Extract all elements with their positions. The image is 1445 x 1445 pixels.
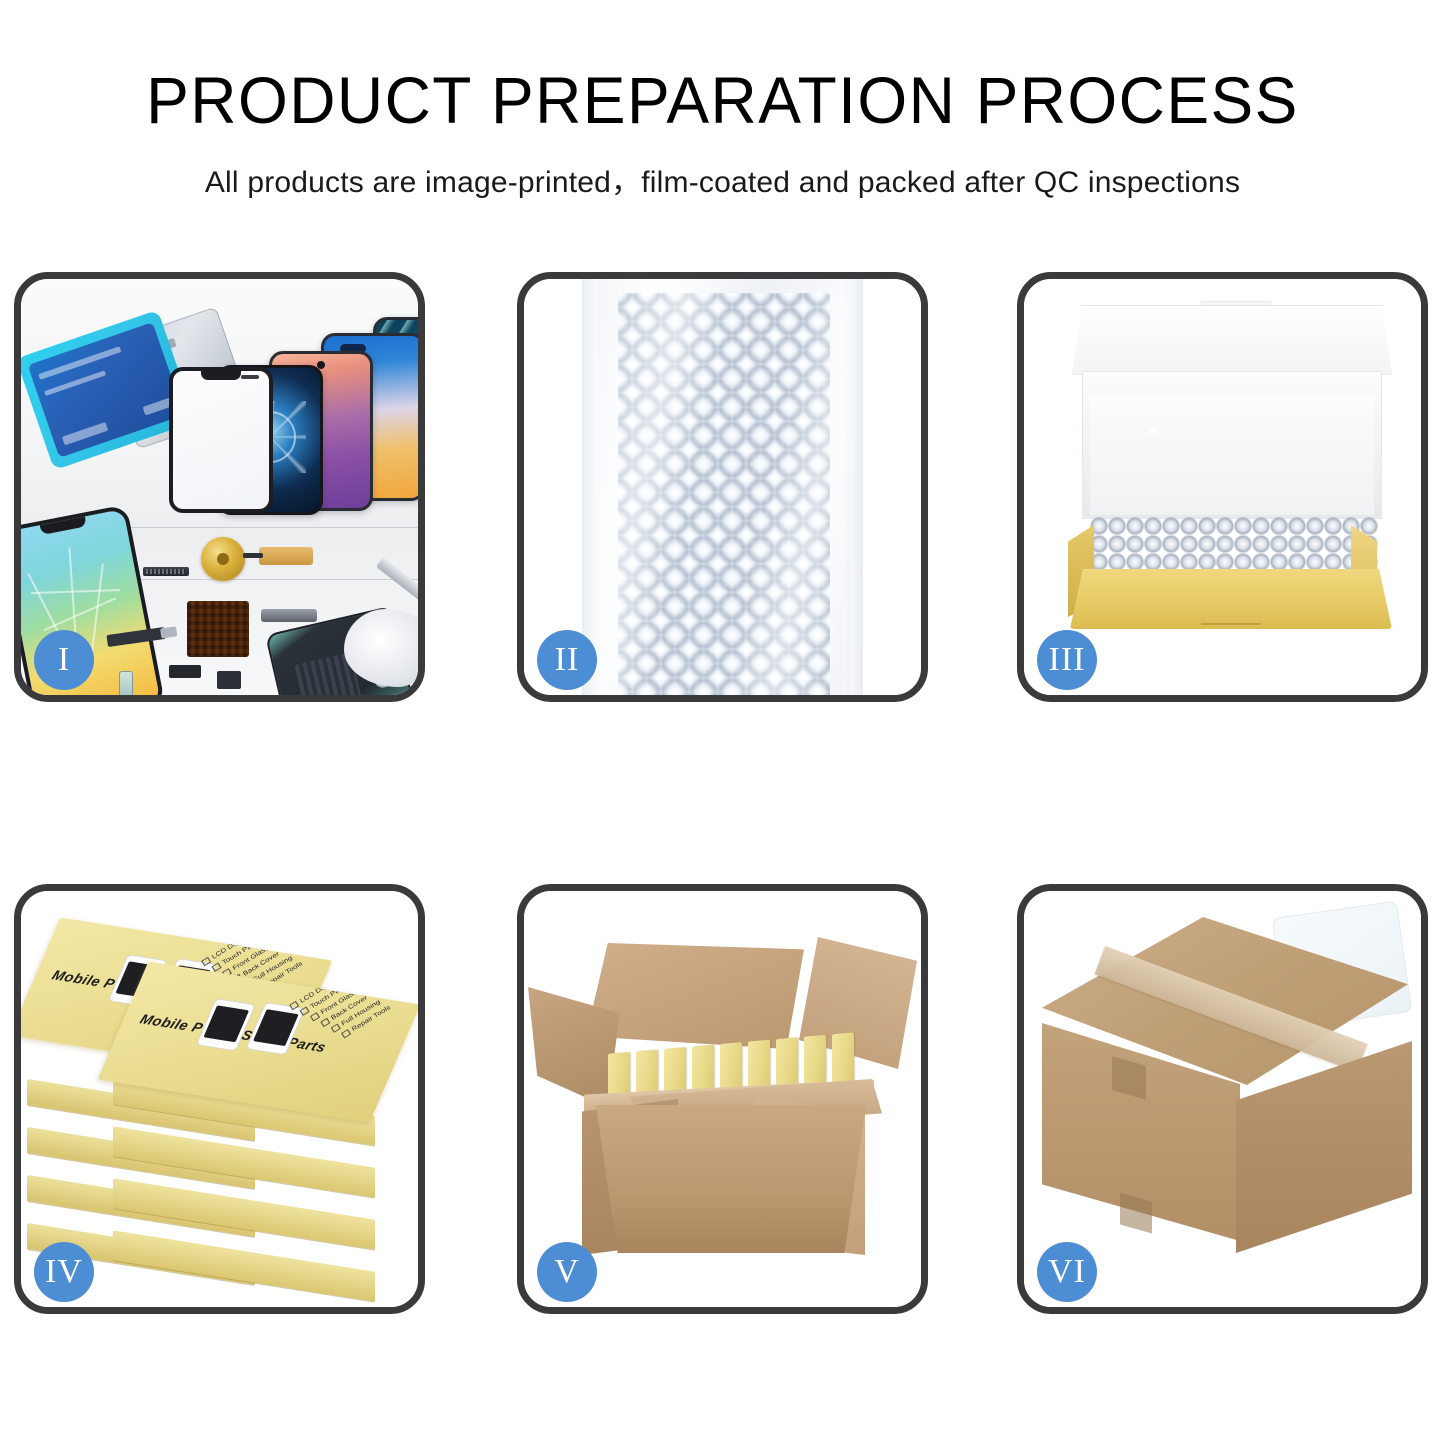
flex-cable-part xyxy=(261,609,317,622)
step-4-illustration: Mobile Phone Spare Parts LCD Digitizer T… xyxy=(21,891,418,1307)
header: PRODUCT PREPARATION PROCESS All products… xyxy=(0,66,1445,201)
gold-ic-part xyxy=(201,537,245,581)
step-5-illustration xyxy=(524,891,921,1307)
wrapped-product-inside xyxy=(1090,517,1378,571)
step-card-5[interactable] xyxy=(517,884,928,1314)
chip-part xyxy=(169,665,201,678)
step-card-2[interactable] xyxy=(517,272,928,702)
step-card-4[interactable]: Mobile Phone Spare Parts LCD Digitizer T… xyxy=(14,884,425,1314)
bubble-wrap-bag xyxy=(598,279,850,695)
page-title: PRODUCT PREPARATION PROCESS xyxy=(22,66,1424,135)
step-3-illustration xyxy=(1024,279,1421,695)
step-1-illustration: 08:08Tue xyxy=(21,279,418,695)
mailer-foam xyxy=(1090,395,1374,515)
bag-edge-right xyxy=(843,279,863,695)
product-preparation-infographic: PRODUCT PREPARATION PROCESS All products… xyxy=(0,0,1445,1445)
page-subtitle: All products are image-printed，film-coat… xyxy=(0,157,1445,201)
step-card-1[interactable]: 08:08Tue xyxy=(14,272,425,702)
plastic-sheen xyxy=(598,279,850,695)
speaker-part xyxy=(143,567,189,576)
sim-tray-part xyxy=(119,671,133,695)
mailer-lid xyxy=(1072,305,1392,375)
bag-edge-left xyxy=(582,279,602,695)
step-card-6[interactable] xyxy=(1017,884,1428,1314)
chip-part xyxy=(217,671,241,689)
process-row-top: 08:08Tue xyxy=(14,272,1431,702)
step-card-3[interactable] xyxy=(1017,272,1428,702)
chip-array-part xyxy=(187,601,249,657)
step-2-illustration xyxy=(524,279,921,695)
process-row-bottom: Mobile Phone Spare Parts LCD Digitizer T… xyxy=(14,884,1431,1314)
process-grid: 08:08Tue xyxy=(14,272,1431,1314)
carton-front-face xyxy=(596,1105,866,1253)
carton-flap-back xyxy=(586,943,804,1049)
step-6-illustration xyxy=(1024,891,1421,1307)
screen-protector-glass xyxy=(169,367,273,513)
flex-cable-part xyxy=(259,547,313,565)
mailer-front-panel xyxy=(1070,569,1392,629)
